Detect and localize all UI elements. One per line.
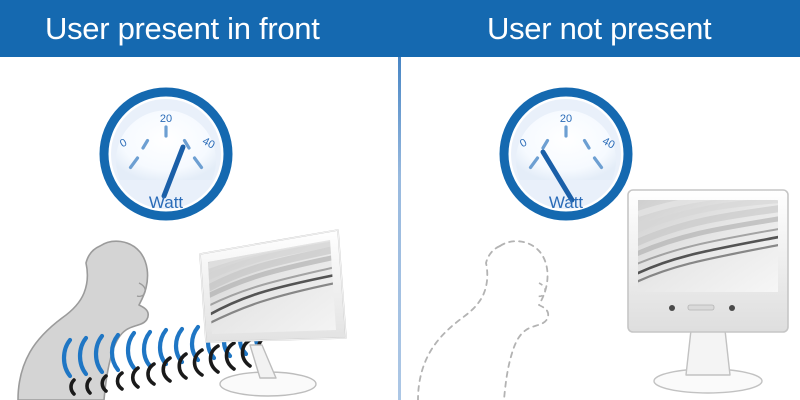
gauge-unit-label: Watt <box>549 193 584 212</box>
infographic-canvas: User present in front User not present <box>0 0 800 400</box>
person-silhouette-dashed <box>418 241 548 400</box>
person-silhouette-filled <box>18 241 148 400</box>
gauge-tick-label-20: 20 <box>560 113 572 125</box>
monitor-front <box>628 190 788 393</box>
gauge-left: 0 20 40 Watt <box>96 84 236 224</box>
monitor-angled <box>200 230 346 396</box>
gauge-right: 0 20 40 Watt <box>496 84 636 224</box>
gauge-unit-label: Watt <box>149 193 184 212</box>
gauge-tick-label-20: 20 <box>160 113 172 125</box>
